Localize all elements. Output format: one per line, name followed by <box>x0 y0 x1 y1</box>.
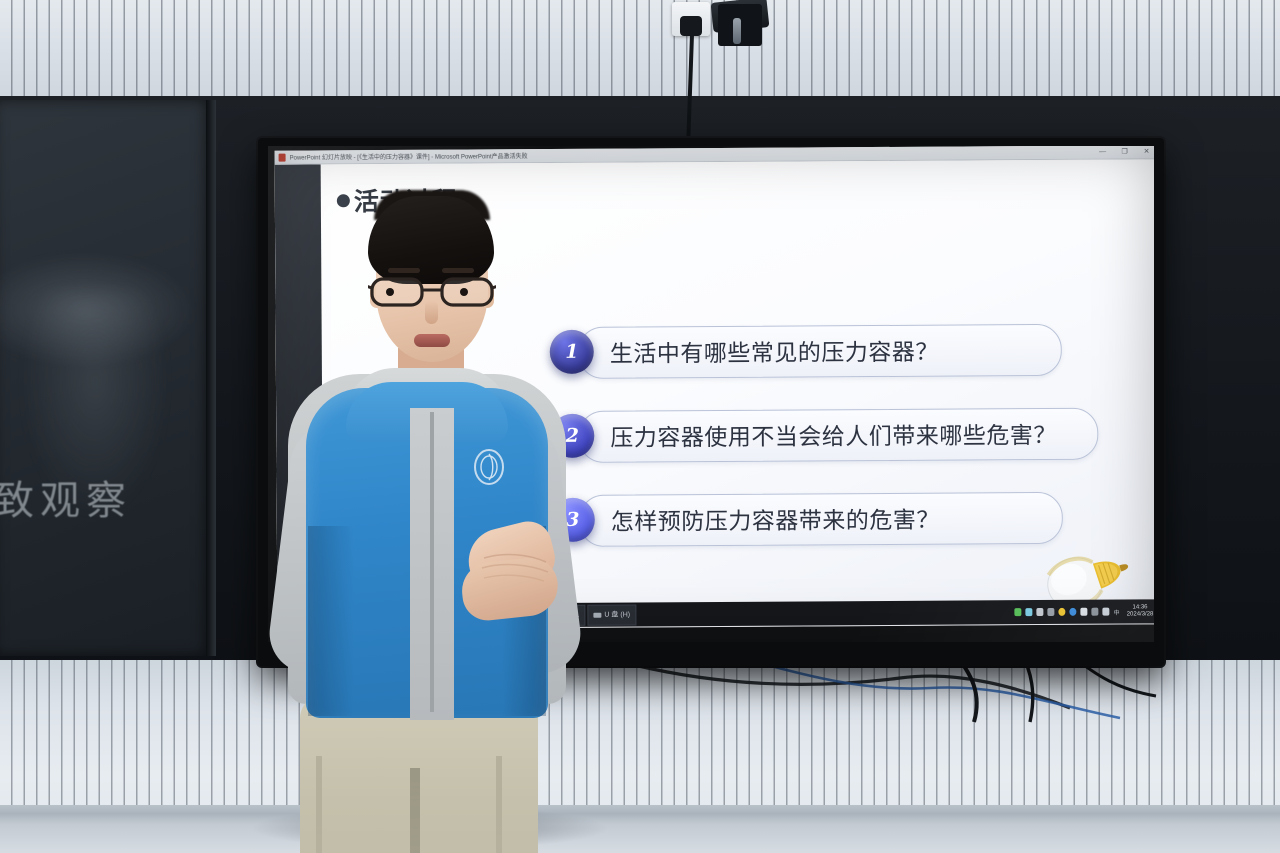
minimize-button[interactable]: — <box>1097 149 1109 156</box>
classroom-scene: 致观察 PowerPoint 幻灯片放映 - [《生活中的压力容器》课件] - … <box>0 0 1280 853</box>
network-icon[interactable] <box>1070 608 1077 616</box>
taskbar-clock[interactable]: 14:36 2024/3/28 <box>1124 604 1154 619</box>
question-row[interactable]: 3 怎样预防压力容器带来的危害？ <box>551 492 1061 545</box>
screen-icon[interactable] <box>1103 608 1110 616</box>
clock-date: 2024/3/28 <box>1127 611 1154 619</box>
wifi-icon[interactable] <box>1092 608 1099 616</box>
phone-icon[interactable] <box>1037 608 1044 616</box>
battery-icon[interactable] <box>1015 608 1022 616</box>
presenter-hair <box>368 196 494 284</box>
close-button[interactable]: ✕ <box>1141 148 1153 155</box>
blackboard: 致观察 <box>0 100 212 656</box>
settings-icon[interactable] <box>1026 608 1033 616</box>
maximize-button[interactable]: ❐ <box>1119 148 1131 155</box>
finger-detail <box>478 548 552 588</box>
cloud-icon[interactable] <box>1081 608 1088 616</box>
floor-baseboard <box>0 805 1280 853</box>
system-tray[interactable]: 中 14:36 2024/3/28 <box>1015 599 1154 624</box>
taskbar-button-usb-drive[interactable]: U 盘 (H) <box>587 604 636 625</box>
question-text: 生活中有哪些常见的压力容器？ <box>610 333 939 369</box>
question-row[interactable]: 1 生活中有哪些常见的压力容器？ <box>550 324 1060 377</box>
pants-fold <box>496 756 502 853</box>
question-text: 怎样预防压力容器带来的危害？ <box>611 501 940 537</box>
usb-drive-icon <box>593 612 601 617</box>
presenter <box>272 196 582 853</box>
question-text: 压力容器使用不当会给人们带来哪些危害？ <box>610 416 1057 453</box>
wall-upper <box>0 0 1280 100</box>
eyebrow-right <box>442 268 474 273</box>
volume-icon[interactable] <box>1048 608 1055 616</box>
glasses-icon <box>368 274 496 308</box>
blackboard-frame <box>206 100 216 656</box>
window-title: PowerPoint 幻灯片放映 - [《生活中的压力容器》课件] - Micr… <box>290 151 528 161</box>
eyebrow-left <box>388 268 420 273</box>
vest-logo-icon <box>470 446 508 490</box>
pants-fold <box>316 756 322 853</box>
vest-zipper <box>430 412 434 712</box>
taskbar-button-label: U 盘 (H) <box>604 610 630 620</box>
pants-seam <box>410 768 420 853</box>
ime-indicator[interactable]: 中 <box>1114 607 1120 616</box>
question-row[interactable]: 2 压力容器使用不当会给人们带来哪些危害？ <box>550 408 1095 461</box>
powerpoint-icon <box>279 153 286 161</box>
vest-shading <box>308 526 354 716</box>
presenter-mouth <box>414 334 450 347</box>
sun-icon[interactable] <box>1059 608 1066 616</box>
blackboard-chalk-text: 致观察 <box>0 468 132 526</box>
mount-bolt <box>733 18 741 44</box>
clock-time: 14:36 <box>1127 604 1154 612</box>
window-controls[interactable]: — ❐ ✕ <box>1097 146 1153 159</box>
